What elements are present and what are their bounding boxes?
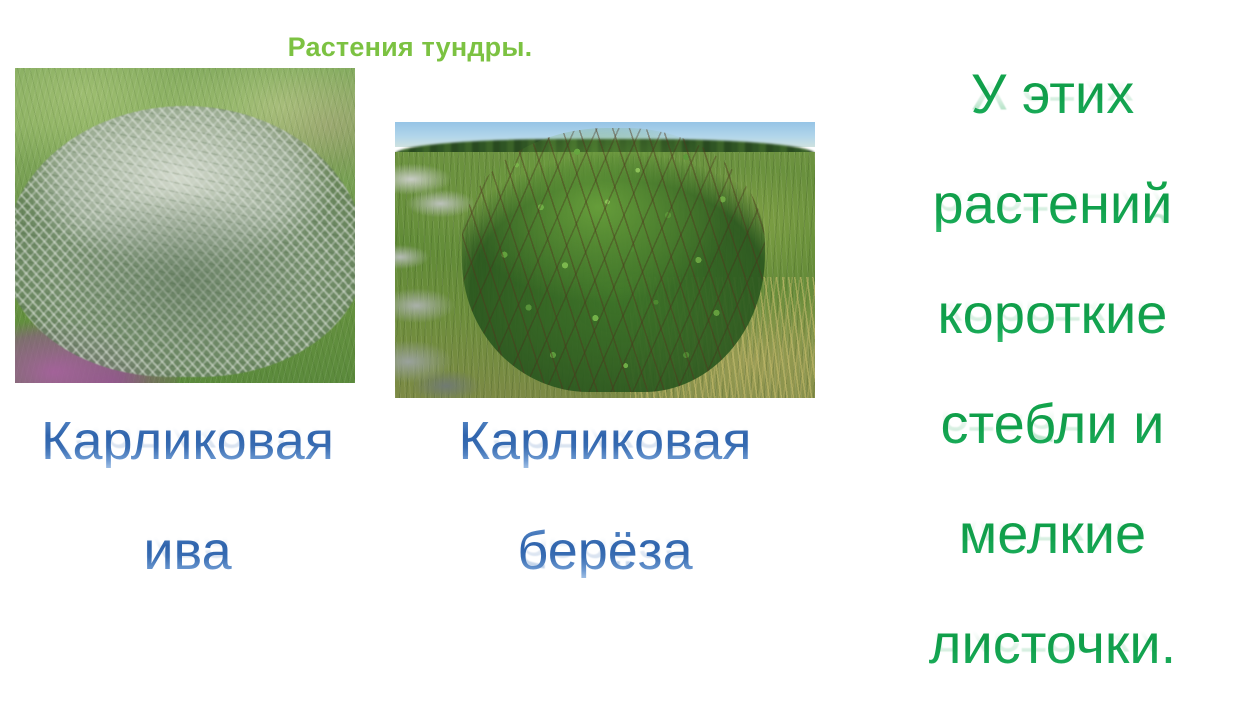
description-line-1: У этих У этих [855, 66, 1250, 174]
page-title: Растения тундры. [0, 32, 820, 63]
caption-birch-line1-reflection: Карликовая [385, 410, 825, 464]
caption-dwarf-birch: Карликовая Карликовая берёза берёза [385, 414, 825, 628]
caption-dwarf-willow: Карликовая Карликовая ива ива [0, 414, 375, 628]
willow-scene [15, 68, 355, 383]
description-text-block: У этих У этих растений растений короткие… [855, 66, 1250, 705]
description-line-4-reflection: стебли и [855, 392, 1250, 448]
caption-willow-line1: Карликовая Карликовая [0, 414, 375, 518]
caption-willow-line2: ива ива [0, 524, 375, 628]
description-line-3-reflection: короткие [855, 282, 1250, 338]
description-line-5: мелкие мелкие [855, 506, 1250, 614]
slide-canvas: Растения тундры. Карликовая Карликовая и… [0, 0, 1250, 705]
description-line-1-reflection: У этих [855, 62, 1250, 118]
caption-birch-line1: Карликовая Карликовая [385, 414, 825, 518]
description-line-4: стебли и стебли и [855, 396, 1250, 504]
birch-shrub [462, 128, 764, 393]
dwarf-birch-photo [395, 122, 815, 398]
dwarf-willow-photo [15, 68, 355, 383]
description-line-2-reflection: растений [855, 172, 1250, 228]
caption-birch-line2: берёза берёза [385, 524, 825, 628]
description-line-6-reflection: листочки. [855, 613, 1250, 669]
description-line-5-reflection: мелкие [855, 502, 1250, 558]
description-line-6: листочки. листочки. [855, 616, 1250, 705]
willow-shrub [15, 106, 355, 377]
birch-scene [395, 122, 815, 398]
caption-willow-line2-reflection: ива [0, 520, 375, 574]
description-line-3: короткие короткие [855, 286, 1250, 394]
caption-birch-line2-reflection: берёза [385, 520, 825, 574]
caption-willow-line1-reflection: Карликовая [0, 410, 375, 464]
description-line-2: растений растений [855, 176, 1250, 284]
